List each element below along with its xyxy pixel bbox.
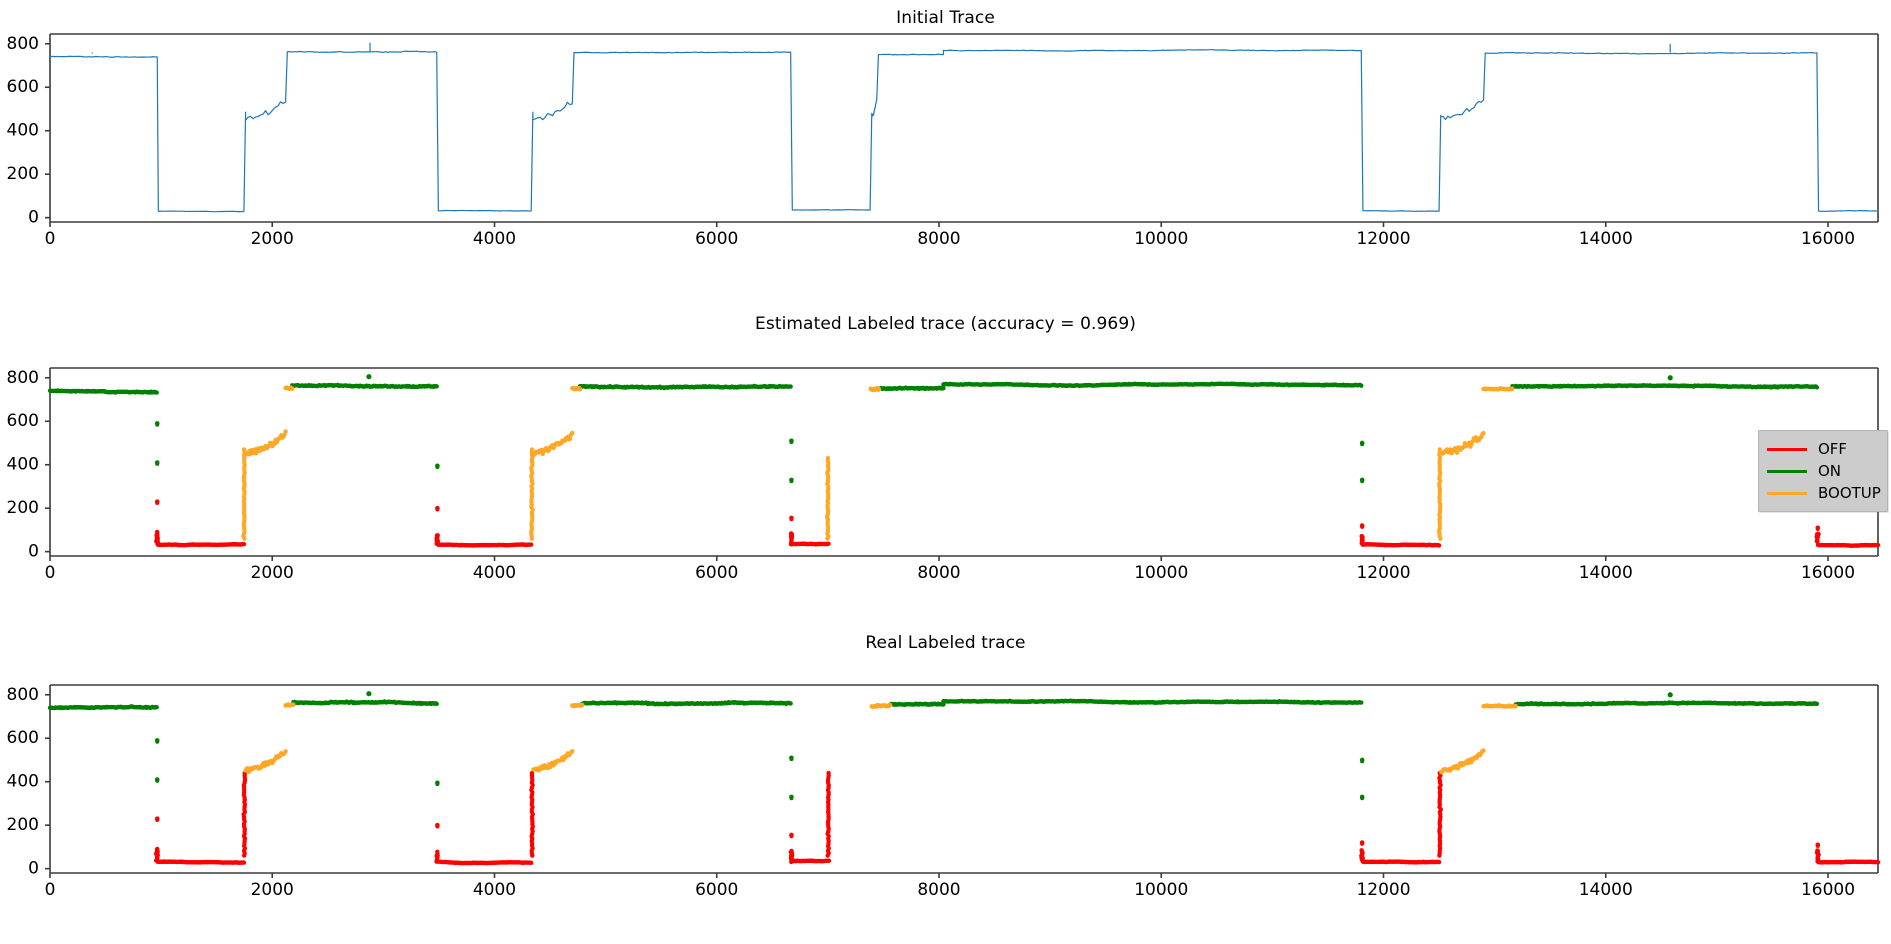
panel-2-title: Real Labeled trace: [0, 633, 1891, 653]
y-tick-label: 0: [28, 208, 39, 228]
x-tick-label: 6000: [695, 880, 738, 900]
x-tick-label: 4000: [473, 880, 516, 900]
x-tick-label: 0: [45, 229, 56, 249]
y-tick-label: 400: [7, 772, 39, 792]
scatter-group-bootup: [243, 702, 1518, 774]
trace-line: [50, 50, 1878, 212]
panel-1-title: Estimated Labeled trace (accuracy = 0.96…: [0, 314, 1891, 334]
y-tick-label: 400: [7, 121, 39, 141]
y-tick-label: 600: [7, 728, 39, 748]
x-tick-label: 16000: [1801, 563, 1855, 583]
x-tick-label: 6000: [695, 229, 738, 249]
figure-canvas: Initial Trace 02004006008000200040006000…: [0, 0, 1891, 944]
x-tick-label: 16000: [1801, 880, 1855, 900]
y-tick-label: 200: [7, 815, 39, 835]
y-tick-label: 600: [7, 411, 39, 431]
x-tick-label: 14000: [1579, 229, 1633, 249]
scatter-group-off: [154, 771, 1880, 865]
legend-label-on: ON: [1818, 464, 1841, 479]
scatter-group-off: [154, 499, 1880, 548]
x-tick-label: 12000: [1356, 563, 1410, 583]
panel-real-labeled-trace: Real Labeled trace 020040060080002000400…: [0, 593, 1891, 944]
scatter-group-bootup: [241, 385, 1514, 540]
y-tick-label: 800: [7, 685, 39, 705]
legend[interactable]: OFF ON BOOTUP: [1758, 430, 1888, 512]
panel-estimated-labeled-trace: Estimated Labeled trace (accuracy = 0.96…: [0, 258, 1891, 593]
x-tick-label: 8000: [917, 563, 960, 583]
y-tick-label: 200: [7, 498, 39, 518]
y-tick-label: 200: [7, 164, 39, 184]
x-tick-label: 2000: [251, 563, 294, 583]
panel-0-plot: 0200400600800020004000600080001000012000…: [0, 0, 1891, 258]
y-tick-label: 600: [7, 77, 39, 97]
legend-item-bootup[interactable]: BOOTUP: [1767, 482, 1881, 504]
x-tick-label: 2000: [251, 229, 294, 249]
x-tick-label: 8000: [917, 229, 960, 249]
scatter-group-on: [48, 691, 1819, 800]
x-tick-label: 12000: [1356, 229, 1410, 249]
x-tick-label: 12000: [1356, 880, 1410, 900]
panel-0-title: Initial Trace: [0, 8, 1891, 28]
y-tick-label: 800: [7, 368, 39, 388]
legend-label-bootup: BOOTUP: [1818, 486, 1881, 501]
legend-swatch-on: [1767, 470, 1807, 473]
x-tick-label: 10000: [1134, 229, 1188, 249]
x-tick-label: 10000: [1134, 563, 1188, 583]
y-tick-label: 800: [7, 34, 39, 54]
x-tick-label: 4000: [473, 229, 516, 249]
x-tick-label: 0: [45, 563, 56, 583]
scatter-group-on: [48, 374, 1819, 483]
x-tick-label: 8000: [917, 880, 960, 900]
x-tick-label: 6000: [695, 563, 738, 583]
x-tick-label: 10000: [1134, 880, 1188, 900]
legend-item-on[interactable]: ON: [1767, 460, 1881, 482]
panel-initial-trace: Initial Trace 02004006008000200040006000…: [0, 0, 1891, 258]
y-tick-label: 400: [7, 455, 39, 475]
x-tick-label: 14000: [1579, 563, 1633, 583]
legend-label-off: OFF: [1818, 442, 1847, 457]
x-tick-label: 0: [45, 880, 56, 900]
x-tick-label: 16000: [1801, 229, 1855, 249]
x-tick-label: 4000: [473, 563, 516, 583]
legend-swatch-off: [1767, 448, 1807, 451]
legend-swatch-bootup: [1767, 492, 1807, 495]
legend-item-off[interactable]: OFF: [1767, 438, 1881, 460]
x-tick-label: 2000: [251, 880, 294, 900]
x-tick-label: 14000: [1579, 880, 1633, 900]
y-tick-label: 0: [28, 859, 39, 879]
panel-1-plot: 0200400600800020004000600080001000012000…: [0, 258, 1891, 593]
y-tick-label: 0: [28, 542, 39, 562]
